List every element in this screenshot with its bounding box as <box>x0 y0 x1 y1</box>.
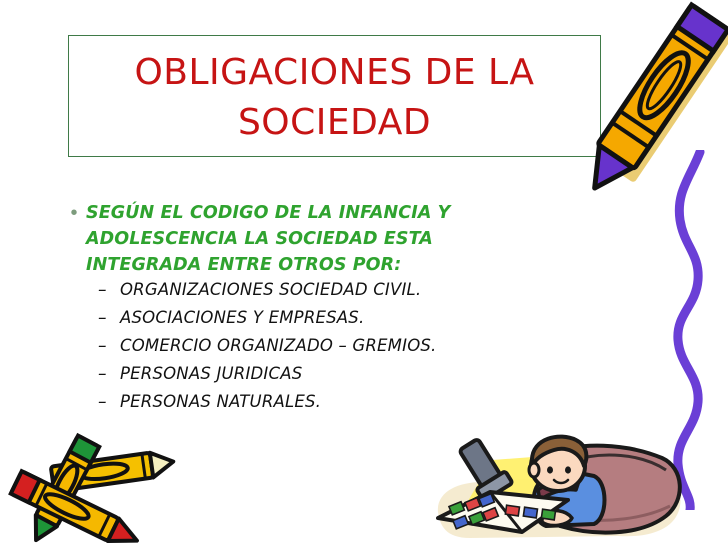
slide-canvas: OBLIGACIONES DE LA SOCIEDAD • SEGÚN EL C… <box>0 0 728 546</box>
dash-marker-icon: – <box>98 392 120 412</box>
list-item-label: PERSONAS JURIDICAS <box>120 364 582 383</box>
dash-marker-icon: – <box>98 280 120 300</box>
bullet-dot-icon: • <box>62 200 86 226</box>
lead-bullet-row: • SEGÚN EL CODIGO DE LA INFANCIA Y ADOLE… <box>62 200 582 278</box>
body-content: • SEGÚN EL CODIGO DE LA INFANCIA Y ADOLE… <box>62 200 582 420</box>
child-reading-illustration <box>418 426 688 546</box>
yellow-crayon-icon <box>582 0 728 209</box>
dash-marker-icon: – <box>98 364 120 384</box>
sub-item-list: – ORGANIZACIONES SOCIEDAD CIVIL. – ASOCI… <box>62 280 582 420</box>
list-item: – PERSONAS NATURALES. <box>98 392 582 420</box>
list-item: – ORGANIZACIONES SOCIEDAD CIVIL. <box>98 280 582 308</box>
crossed-crayons-icon <box>4 424 189 544</box>
list-item-label: ORGANIZACIONES SOCIEDAD CIVIL. <box>120 280 582 299</box>
list-item-label: ASOCIACIONES Y EMPRESAS. <box>120 308 582 327</box>
list-item: – COMERCIO ORGANIZADO – GREMIOS. <box>98 336 582 364</box>
dash-marker-icon: – <box>98 308 120 328</box>
lead-paragraph: SEGÚN EL CODIGO DE LA INFANCIA Y ADOLESC… <box>86 200 582 278</box>
list-item-label: PERSONAS NATURALES. <box>120 392 582 411</box>
list-item-label: COMERCIO ORGANIZADO – GREMIOS. <box>120 336 582 355</box>
list-item: – ASOCIACIONES Y EMPRESAS. <box>98 308 582 336</box>
list-item: – PERSONAS JURIDICAS <box>98 364 582 392</box>
purple-squiggle-icon <box>618 150 728 510</box>
title-box: OBLIGACIONES DE LA SOCIEDAD <box>68 35 601 157</box>
dash-marker-icon: – <box>98 336 120 356</box>
page-title: OBLIGACIONES DE LA SOCIEDAD <box>69 48 600 148</box>
